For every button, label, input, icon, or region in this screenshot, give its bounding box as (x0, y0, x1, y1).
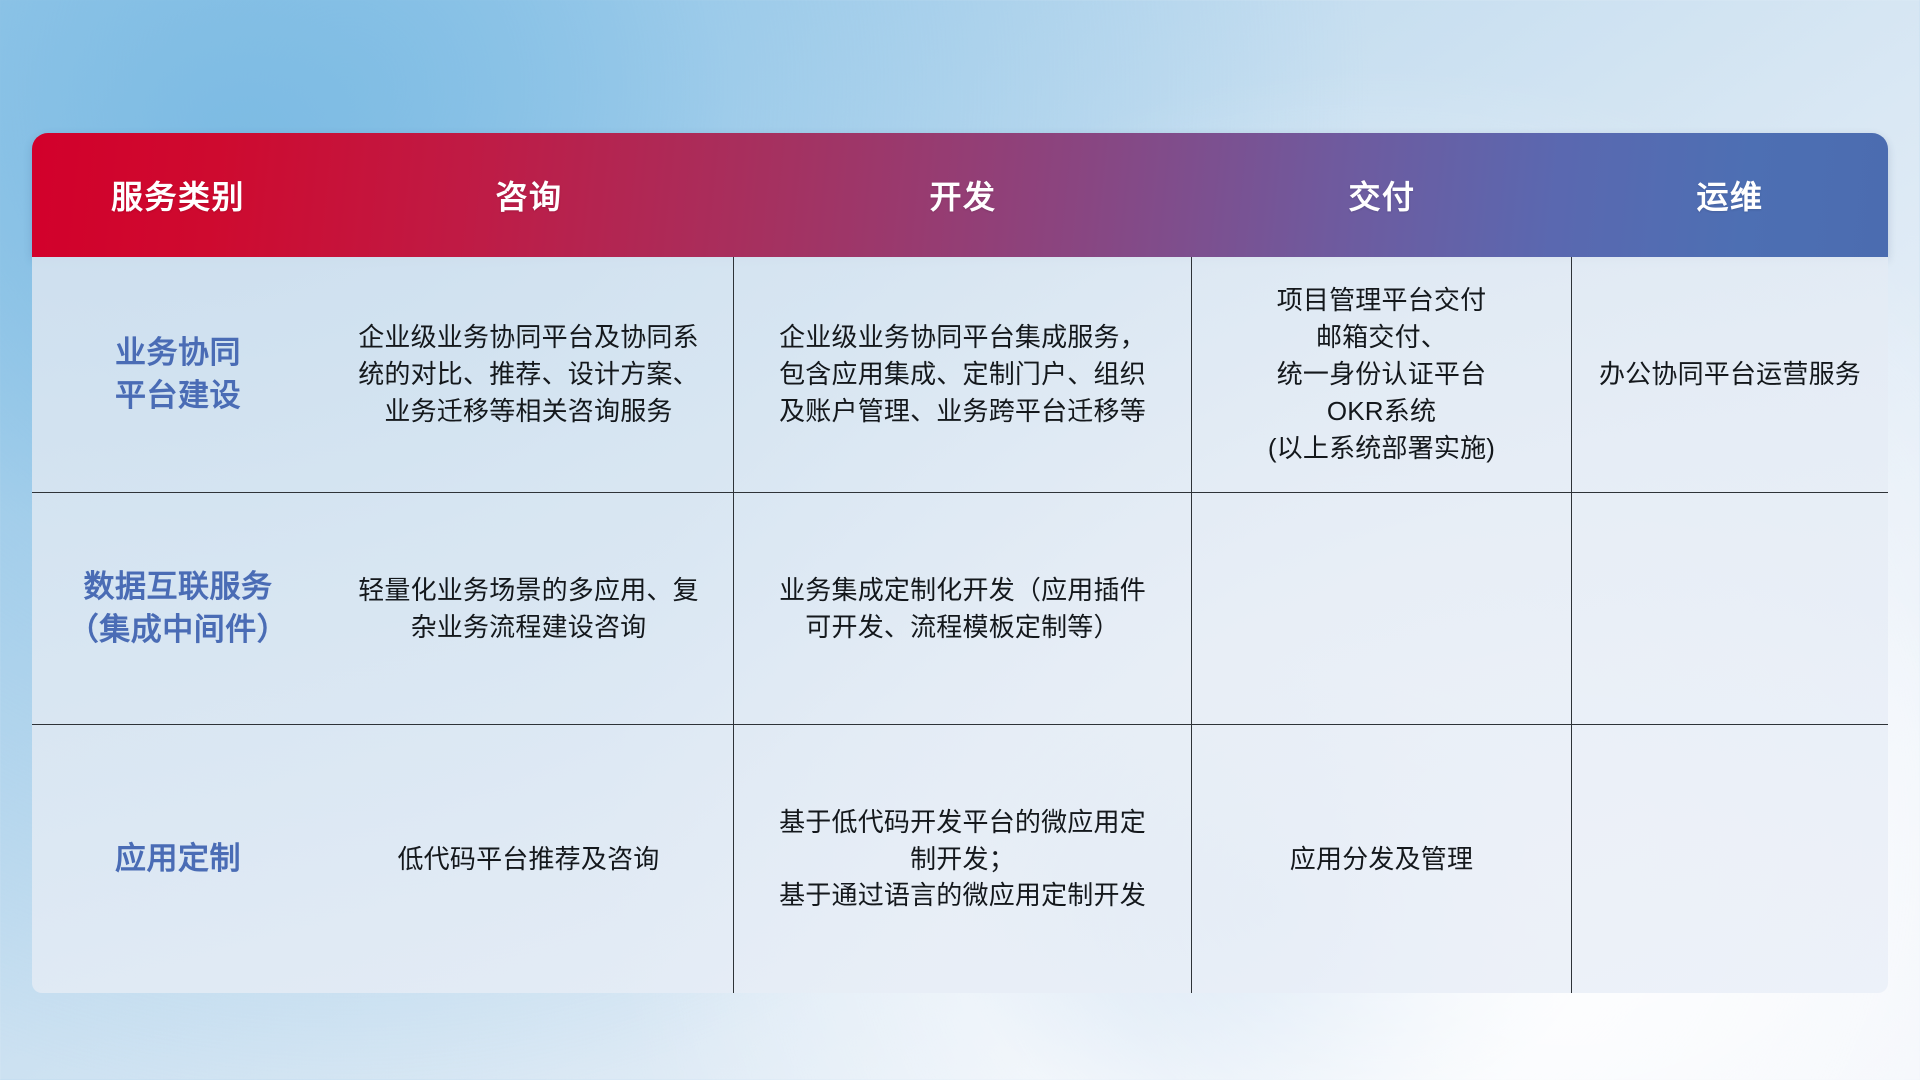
cell-category: 应用定制 (32, 725, 324, 993)
cell-text: 项目管理平台交付 邮箱交付、 统一身份认证平台 OKR系统 (以上系统部署实施) (1268, 282, 1495, 467)
table-row: 应用定制 低代码平台推荐及咨询 基于低代码开发平台的微应用定 制开发； 基于通过… (32, 725, 1888, 993)
cell-consulting: 低代码平台推荐及咨询 (324, 725, 734, 993)
cell-consulting: 企业级业务协同平台及协同系 统的对比、推荐、设计方案、 业务迁移等相关咨询服务 (324, 257, 734, 492)
cell-text: 业务集成定制化开发（应用插件 可开发、流程模板定制等） (779, 572, 1146, 646)
service-category-table: 服务类别 咨询 开发 交付 运维 业务协同 平台建设 企业级业务协同平台及协同系… (32, 133, 1888, 993)
table-body: 业务协同 平台建设 企业级业务协同平台及协同系 统的对比、推荐、设计方案、 业务… (32, 257, 1888, 993)
cell-development: 基于低代码开发平台的微应用定 制开发； 基于通过语言的微应用定制开发 (734, 725, 1192, 993)
cell-delivery: 项目管理平台交付 邮箱交付、 统一身份认证平台 OKR系统 (以上系统部署实施) (1192, 257, 1572, 492)
cell-text: 办公协同平台运营服务 (1599, 356, 1861, 393)
cell-category: 业务协同 平台建设 (32, 257, 324, 492)
column-header-consulting: 咨询 (324, 133, 734, 257)
cell-development: 业务集成定制化开发（应用插件 可开发、流程模板定制等） (734, 493, 1192, 724)
cell-text: 基于低代码开发平台的微应用定 制开发； 基于通过语言的微应用定制开发 (779, 804, 1146, 915)
category-label: 应用定制 (115, 838, 241, 881)
table-header-row: 服务类别 咨询 开发 交付 运维 (32, 133, 1888, 257)
category-label: 数据互联服务 （集成中间件） (68, 566, 289, 652)
cell-text: 企业级业务协同平台及协同系 统的对比、推荐、设计方案、 业务迁移等相关咨询服务 (358, 319, 699, 430)
table-row: 数据互联服务 （集成中间件） 轻量化业务场景的多应用、复 杂业务流程建设咨询 业… (32, 493, 1888, 725)
cell-text: 低代码平台推荐及咨询 (397, 841, 659, 878)
cell-delivery: 应用分发及管理 (1192, 725, 1572, 993)
cell-consulting: 轻量化业务场景的多应用、复 杂业务流程建设咨询 (324, 493, 734, 724)
cell-operations (1572, 725, 1888, 993)
cell-operations: 办公协同平台运营服务 (1572, 257, 1888, 492)
cell-delivery (1192, 493, 1572, 724)
cell-text: 轻量化业务场景的多应用、复 杂业务流程建设咨询 (358, 572, 699, 646)
cell-operations (1572, 493, 1888, 724)
column-header-operations: 运维 (1572, 133, 1888, 257)
table-row: 业务协同 平台建设 企业级业务协同平台及协同系 统的对比、推荐、设计方案、 业务… (32, 257, 1888, 493)
column-header-development: 开发 (734, 133, 1192, 257)
column-header-delivery: 交付 (1192, 133, 1572, 257)
cell-category: 数据互联服务 （集成中间件） (32, 493, 324, 724)
column-header-category: 服务类别 (32, 133, 324, 257)
category-label: 业务协同 平台建设 (115, 332, 241, 418)
cell-text: 应用分发及管理 (1290, 841, 1473, 878)
cell-development: 企业级业务协同平台集成服务， 包含应用集成、定制门户、组织 及账户管理、业务跨平… (734, 257, 1192, 492)
cell-text: 企业级业务协同平台集成服务， 包含应用集成、定制门户、组织 及账户管理、业务跨平… (779, 319, 1146, 430)
